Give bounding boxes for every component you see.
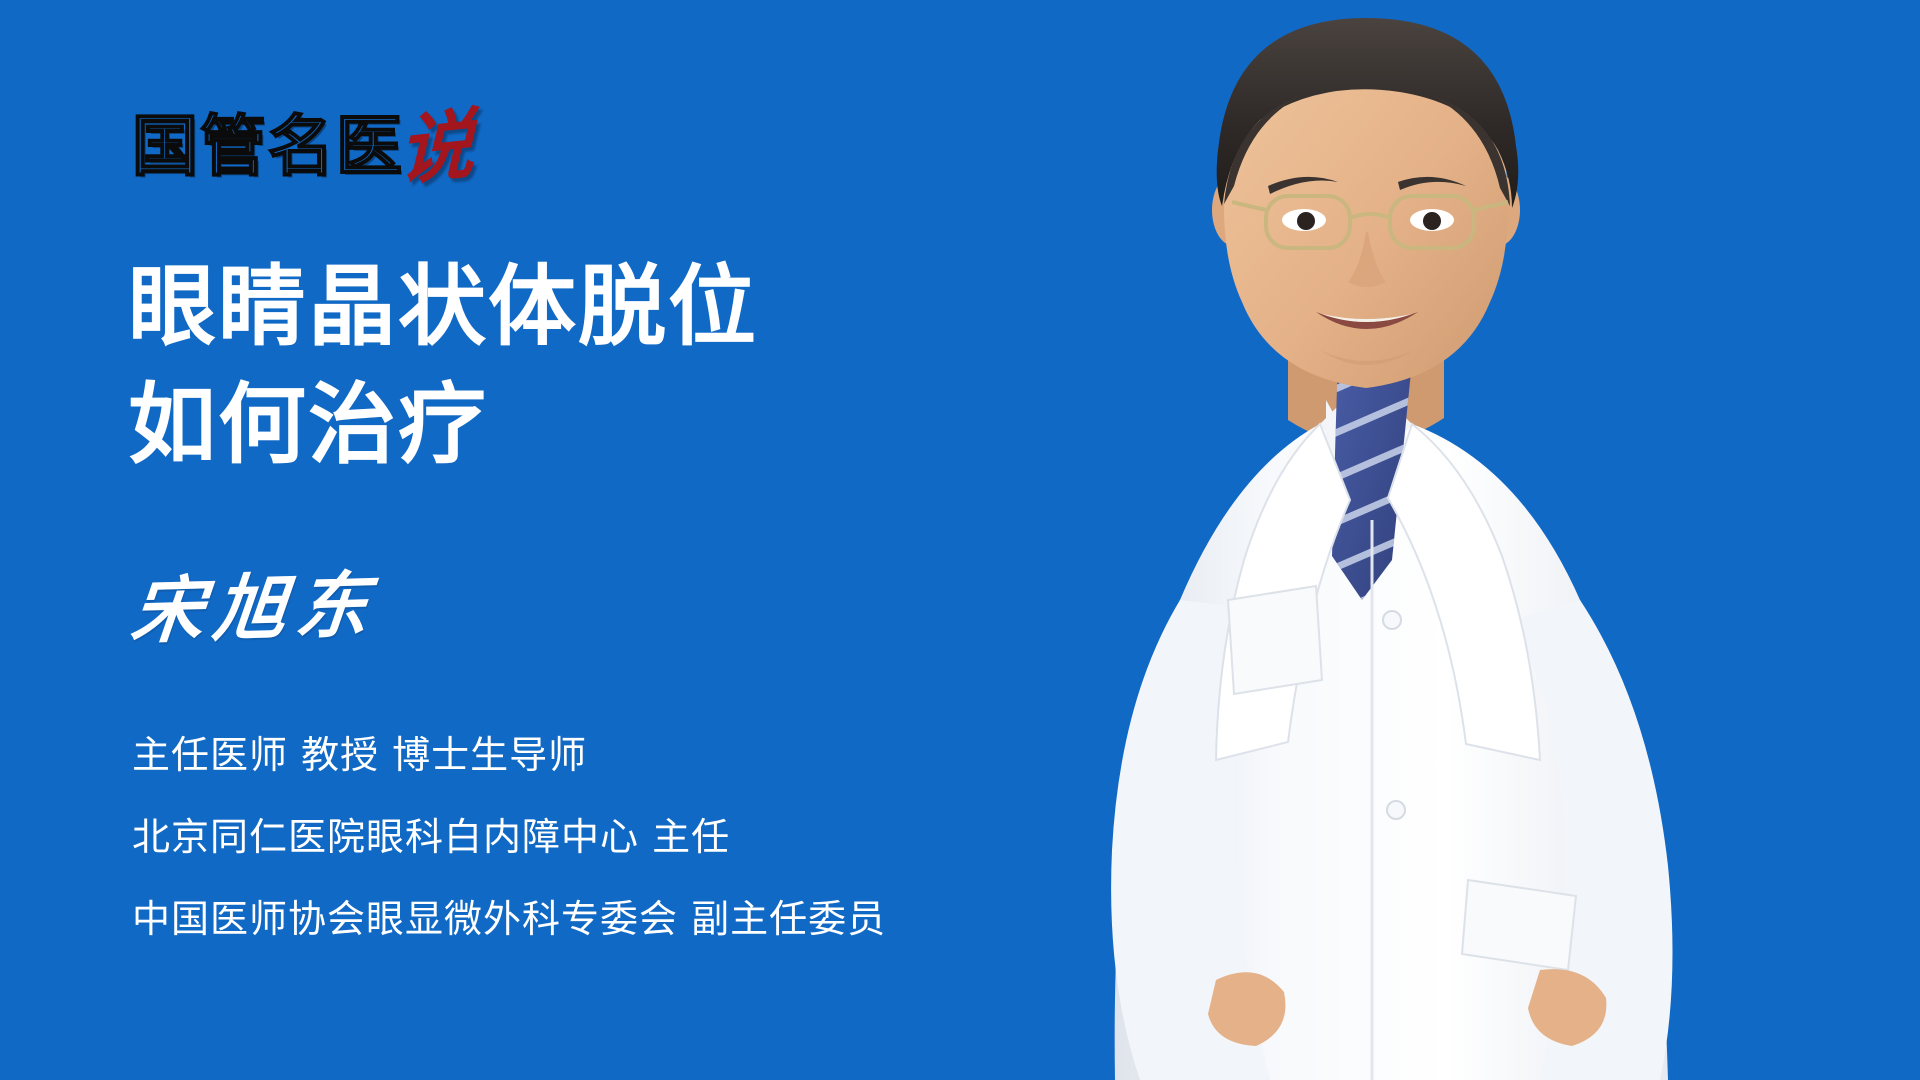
coat-lower-pocket bbox=[1462, 880, 1576, 970]
doctor-credentials: 主任医师 教授 博士生导师 北京同仁医院眼科白内障中心 主任 中国医师协会眼显微… bbox=[132, 714, 886, 960]
pupil-right bbox=[1423, 212, 1441, 230]
coat-button bbox=[1387, 801, 1405, 819]
doctor-name: 宋旭东 bbox=[128, 569, 382, 647]
brand-logo: 国管名医 说 bbox=[132, 96, 474, 180]
coat-button bbox=[1383, 611, 1401, 629]
doctor-portrait bbox=[1020, 0, 1920, 1080]
coat-chest-pocket bbox=[1228, 586, 1322, 694]
poster-canvas: 国管名医 说 眼睛晶状体脱位 如何治疗 宋旭东 主任医师 教授 博士生导师 北京… bbox=[0, 0, 1920, 1080]
page-title: 眼睛晶状体脱位 如何治疗 bbox=[128, 248, 1028, 484]
pupil-left bbox=[1297, 212, 1315, 230]
brand-logo-accent-text: 说 bbox=[398, 106, 474, 190]
doctor-portrait-illustration bbox=[1020, 0, 1920, 1080]
brand-logo-main-text: 国管名医 bbox=[132, 114, 404, 180]
page-title-line-2: 如何治疗 bbox=[128, 366, 1028, 484]
credential-line: 中国医师协会眼显微外科专委会 副主任委员 bbox=[132, 878, 886, 960]
credential-line: 北京同仁医院眼科白内障中心 主任 bbox=[132, 796, 886, 878]
text-column: 国管名医 说 眼睛晶状体脱位 如何治疗 宋旭东 主任医师 教授 博士生导师 北京… bbox=[0, 0, 1100, 1080]
page-title-line-1: 眼睛晶状体脱位 bbox=[128, 248, 1028, 366]
credential-line: 主任医师 教授 博士生导师 bbox=[132, 714, 886, 796]
